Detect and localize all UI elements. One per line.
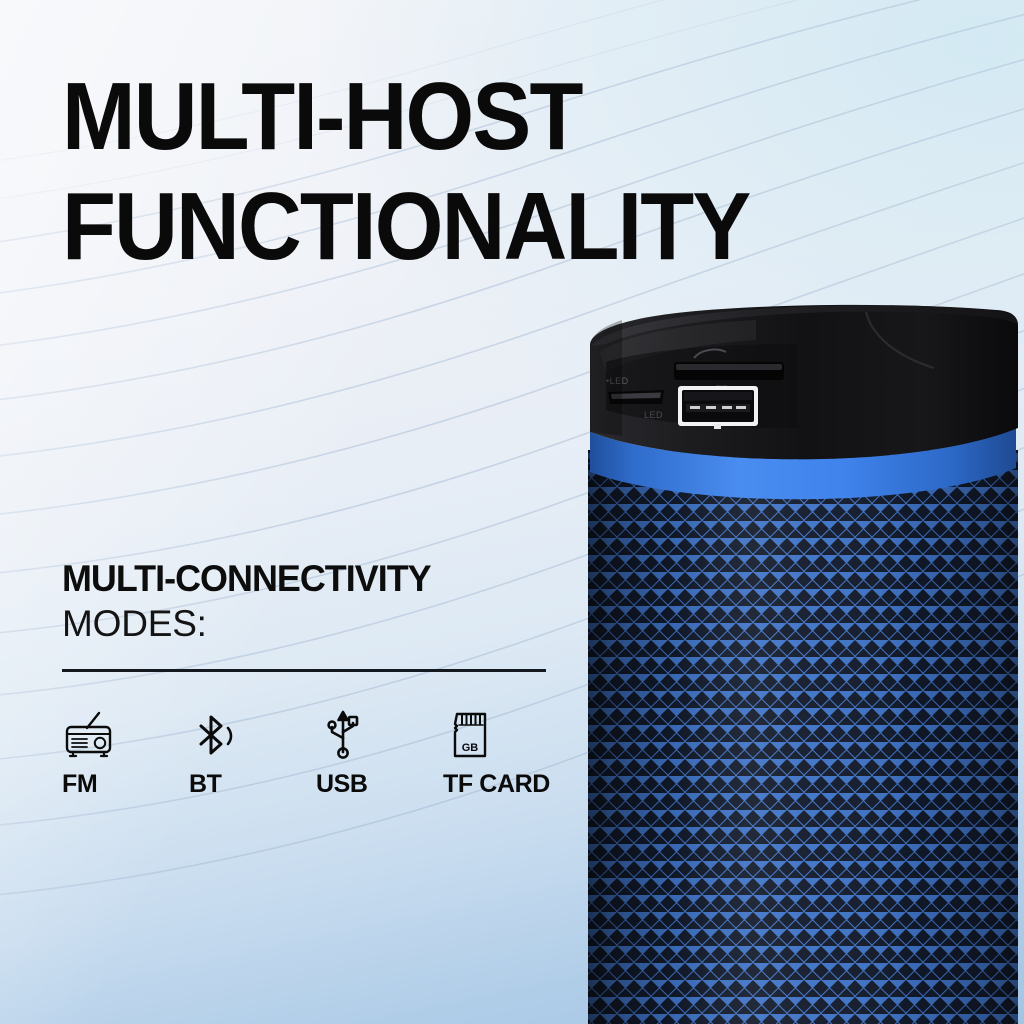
mode-label-usb: USB bbox=[316, 770, 443, 799]
mode-item-bt: BT bbox=[189, 706, 316, 799]
mode-item-fm: FM bbox=[62, 706, 189, 799]
radio-icon bbox=[62, 706, 189, 762]
speaker-mesh-body bbox=[588, 450, 1020, 1024]
mode-item-tf-card: GB TF CARD bbox=[443, 706, 570, 799]
speaker-port-panel: TF •LED LED bbox=[606, 344, 798, 429]
headline-block: MULTI-HOST FUNCTIONALITY bbox=[62, 70, 962, 274]
headline-line-2: FUNCTIONALITY bbox=[62, 180, 890, 274]
mode-label-bt: BT bbox=[189, 770, 316, 799]
mode-item-usb: USB bbox=[316, 706, 443, 799]
bluetooth-icon bbox=[189, 706, 316, 762]
section-divider bbox=[62, 669, 546, 672]
usb-icon bbox=[316, 706, 443, 762]
connectivity-title-bold: MULTI-CONNECTIVITY bbox=[62, 560, 547, 598]
connectivity-title-light: MODES: bbox=[62, 603, 562, 644]
memory-card-icon: GB bbox=[443, 706, 570, 762]
usb-a-port bbox=[678, 386, 758, 429]
headline-line-1: MULTI-HOST bbox=[62, 70, 890, 164]
mode-label-tf-card: TF CARD bbox=[443, 770, 570, 799]
connectivity-section: MULTI-CONNECTIVITY MODES: bbox=[62, 560, 562, 672]
connectivity-modes-row: FM BT bbox=[62, 706, 572, 799]
led-port-label-bottom: LED bbox=[644, 410, 663, 420]
memory-card-capacity-label: GB bbox=[462, 742, 479, 754]
mode-label-fm: FM bbox=[62, 770, 189, 799]
product-speaker-image: TF •LED LED bbox=[566, 300, 1024, 1024]
